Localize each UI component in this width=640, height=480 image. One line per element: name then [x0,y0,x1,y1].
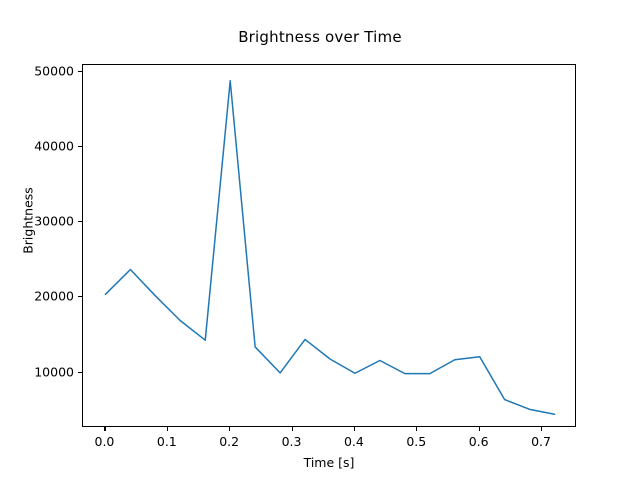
x-tick-mark [479,427,480,431]
x-tick-label: 0.0 [74,434,134,449]
x-tick-mark [416,427,417,431]
figure-canvas: Brightness over Time 1000020000300004000… [0,0,640,480]
y-tick-label: 50000 [14,63,74,78]
y-tick-label: 10000 [14,364,74,379]
x-tick-mark [292,427,293,431]
x-tick-mark [167,427,168,431]
x-tick-label: 0.3 [262,434,322,449]
y-tick-mark [78,71,82,72]
plot-axes-area [82,64,576,427]
x-tick-label: 0.6 [449,434,509,449]
x-tick-label: 0.2 [199,434,259,449]
x-tick-labels: 0.00.10.20.30.40.50.60.7 [0,434,640,454]
x-tick-label: 0.1 [137,434,197,449]
x-axis-label: Time [s] [82,455,576,470]
x-tick-label: 0.7 [511,434,571,449]
y-tick-mark [78,146,82,147]
y-tick-labels: 1000020000300004000050000 [8,0,74,480]
y-axis-label: Brightness [21,141,36,301]
x-tick-mark [104,427,105,431]
chart-title: Brightness over Time [0,28,640,46]
x-tick-mark [354,427,355,431]
y-tick-mark [78,221,82,222]
y-tick-mark [78,372,82,373]
x-tick-mark [229,427,230,431]
x-tick-label: 0.5 [386,434,446,449]
brightness-line [105,81,554,414]
x-tick-mark [541,427,542,431]
y-tick-mark [78,296,82,297]
x-tick-label: 0.4 [324,434,384,449]
line-series-svg [83,65,577,428]
